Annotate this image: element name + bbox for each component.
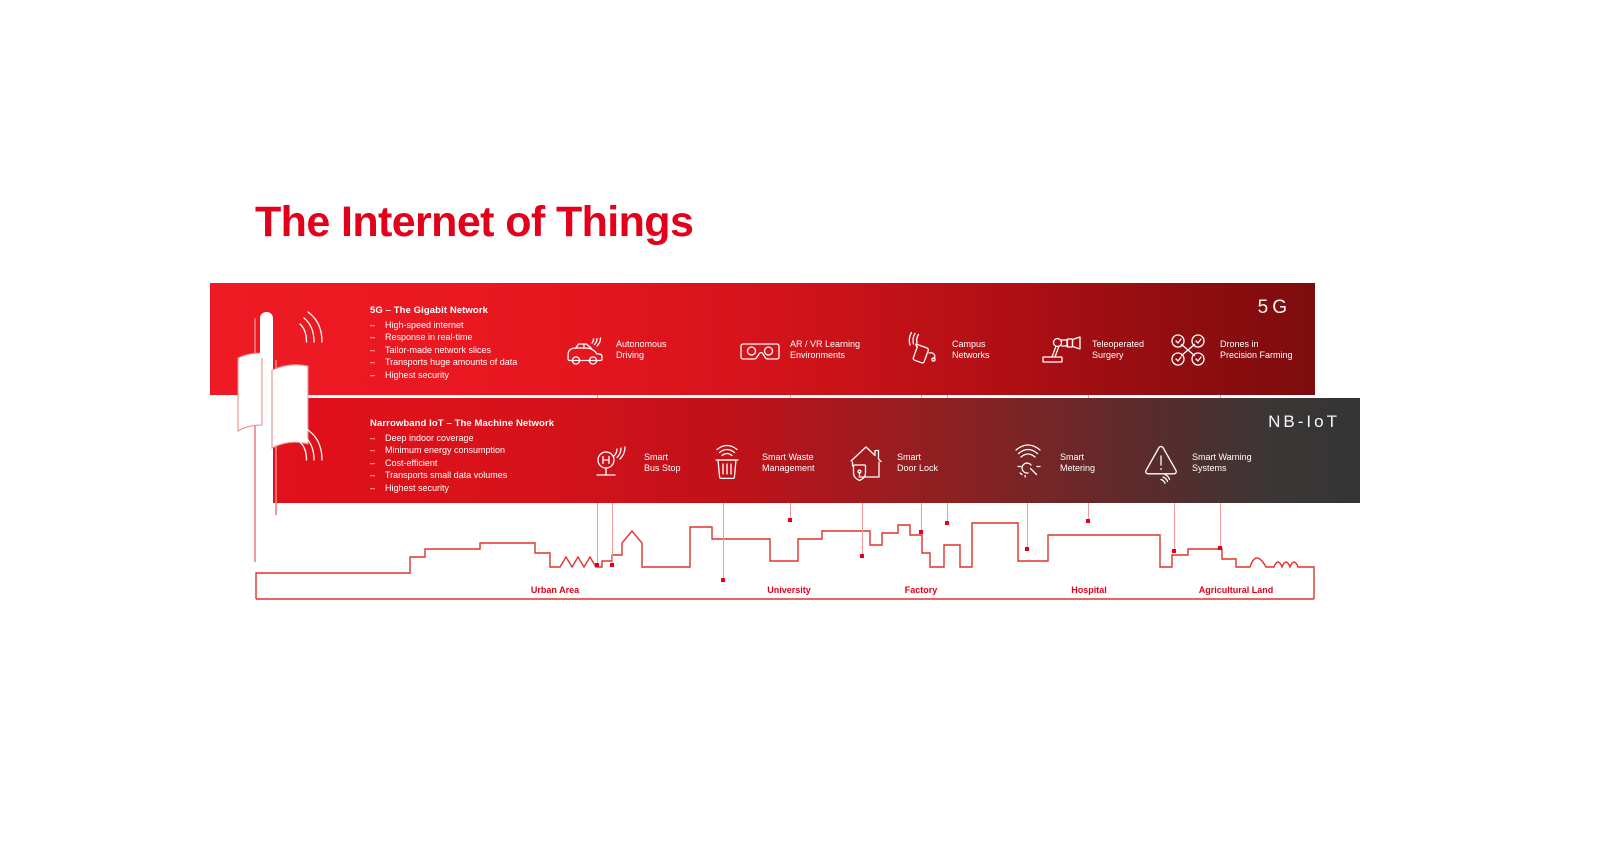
city-label-hospital: Hospital (1071, 585, 1107, 595)
city-label-agricultural-land: Agricultural Land (1199, 585, 1274, 595)
bullet: Transports small data volumes (370, 469, 554, 481)
connector-endpoint-dot (945, 521, 949, 525)
use-case-label: AR / VR LearningEnvironments (790, 339, 860, 362)
bullet: Transports huge amounts of data (370, 356, 517, 368)
connector-endpoint-dot (1025, 547, 1029, 551)
cell-tower-icon (218, 300, 338, 565)
connector-endpoint-dot (860, 554, 864, 558)
use-case-label: Smart WarningSystems (1192, 452, 1252, 475)
infographic-canvas: The Internet of Things Urban Area Univer… (0, 0, 1600, 862)
bullet: Highest security (370, 482, 554, 494)
robot-arm-icon (1040, 330, 1084, 370)
connector-endpoint-dot (1218, 546, 1222, 550)
connector-endpoint-dot (919, 530, 923, 534)
use-case-label: SmartBus Stop (644, 452, 681, 475)
use-case-label: SmartDoor Lock (897, 452, 938, 475)
use-case-campus-networks[interactable]: CampusNetworks (900, 330, 990, 370)
bus-stop-signal-icon (592, 443, 636, 483)
bullet: Minimum energy consumption (370, 444, 554, 456)
use-case-teleoperated-surgery[interactable]: TeleoperatedSurgery (1040, 330, 1144, 370)
city-label-urban-area: Urban Area (531, 585, 579, 595)
use-case-label: Drones inPrecision Farming (1220, 339, 1293, 362)
use-case-smart-door-lock[interactable]: SmartDoor Lock (845, 443, 938, 483)
band-nbiot-heading: Narrowband IoT – The Machine Network (370, 418, 554, 429)
use-case-label: AutonomousDriving (616, 339, 667, 362)
city-label-university: University (767, 585, 811, 595)
connector-endpoint-dot (1172, 549, 1176, 553)
use-case-label: Smart WasteManagement (762, 452, 815, 475)
connector-endpoint-dot (595, 563, 599, 567)
band-5g-bullet-list: High-speed internet Response in real-tim… (370, 319, 517, 381)
bullet: Response in real-time (370, 331, 517, 343)
waste-bin-wifi-icon (710, 443, 754, 483)
warning-triangle-icon (1140, 443, 1184, 483)
use-case-label: CampusNetworks (952, 339, 990, 362)
band-5g-heading: 5G – The Gigabit Network (370, 305, 517, 316)
use-case-ar-vr-learning[interactable]: AR / VR LearningEnvironments (738, 330, 860, 370)
phone-signal-icon (900, 330, 944, 370)
band-nbiot-description: Narrowband IoT – The Machine Network Dee… (370, 418, 554, 494)
connector-endpoint-dot (788, 518, 792, 522)
page-title: The Internet of Things (255, 198, 693, 247)
band-5g-tag: 5G (1258, 297, 1291, 319)
city-label-factory: Factory (905, 585, 938, 595)
band-5g-description: 5G – The Gigabit Network High-speed inte… (370, 305, 517, 381)
band-nbiot-tag: NB-IoT (1268, 412, 1340, 432)
bullet: Cost-efficient (370, 457, 554, 469)
connector-endpoint-dot (610, 563, 614, 567)
use-case-smart-metering[interactable]: SmartMetering (1008, 443, 1095, 483)
bullet: Highest security (370, 369, 517, 381)
use-case-smart-waste-management[interactable]: Smart WasteManagement (710, 443, 815, 483)
use-case-drones-precision-farming[interactable]: Drones inPrecision Farming (1168, 330, 1293, 370)
connector-endpoint-dot (1086, 519, 1090, 523)
use-case-smart-warning-systems[interactable]: Smart WarningSystems (1140, 443, 1252, 483)
bullet: Deep indoor coverage (370, 432, 554, 444)
bullet: High-speed internet (370, 319, 517, 331)
house-lock-icon (845, 443, 889, 483)
use-case-label: TeleoperatedSurgery (1092, 339, 1144, 362)
vr-goggles-icon (738, 330, 782, 370)
use-case-smart-bus-stop[interactable]: SmartBus Stop (592, 443, 681, 483)
drone-icon (1168, 330, 1212, 370)
use-case-autonomous-driving[interactable]: AutonomousDriving (564, 330, 667, 370)
bullet: Tailor-made network slices (370, 344, 517, 356)
car-wifi-icon (564, 330, 608, 370)
band-nbiot-bullet-list: Deep indoor coverage Minimum energy cons… (370, 432, 554, 494)
meter-wifi-icon (1008, 443, 1052, 483)
connector-endpoint-dot (721, 578, 725, 582)
use-case-label: SmartMetering (1060, 452, 1095, 475)
